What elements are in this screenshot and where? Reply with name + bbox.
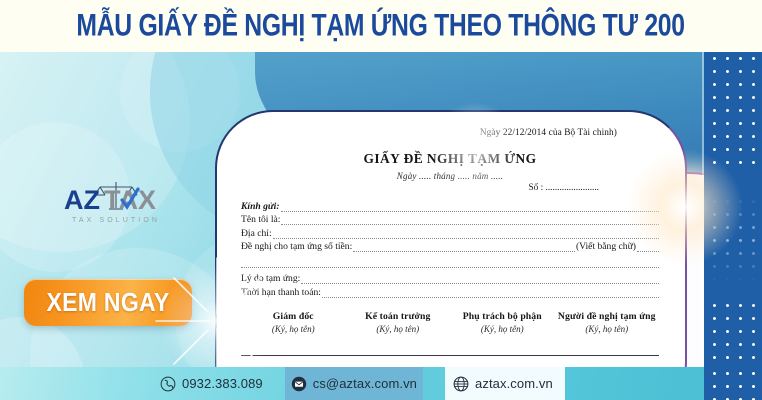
form-row: Kính gửi: — [241, 201, 659, 212]
document-card: Ngày 22/12/2014 của Bộ Tài chinh) GIẤY Đ… — [215, 110, 687, 400]
globe-icon — [453, 376, 469, 392]
phone-icon — [160, 376, 176, 392]
field-label-ten-toi-la: Tên tôi là: — [241, 214, 280, 225]
field-blank-line — [301, 275, 659, 284]
footer-dot-strip — [704, 367, 762, 400]
footer-email-text: cs@aztax.com.vn — [313, 376, 417, 391]
signature-row: Giám đốc (Ký, họ tên) Kế toán trưởng (Ký… — [241, 311, 659, 334]
footer-website-text: aztax.com.vn — [475, 376, 553, 391]
signature-note: (Ký, họ tên) — [346, 324, 451, 334]
signature-divider — [241, 355, 659, 356]
field-label-thoi-han: Thời hạn thanh toán: — [241, 287, 321, 298]
logo-tagline: TAX SOLUTION — [72, 217, 160, 224]
signature-note: (Ký, họ tên) — [241, 324, 346, 334]
signature-block-nguoi-de-nghi: Người đề nghị tạm ứng (Ký, họ tên) — [555, 311, 660, 334]
signature-block-giam-doc: Giám đốc (Ký, họ tên) — [241, 311, 346, 334]
field-blank-line — [273, 230, 659, 239]
form-row: Thời hạn thanh toán: — [241, 287, 659, 298]
footer-phone[interactable]: 0932.383.089 — [160, 376, 263, 392]
field-hint-viet-bang-chu: (Viết bằng chữ) — [575, 241, 636, 252]
field-label-ly-do: Lý do tạm ứng: — [241, 273, 300, 284]
field-continuation-line — [241, 258, 659, 268]
logo-text-az: AZ — [64, 185, 100, 215]
xem-ngay-label: XEM NGAY — [47, 287, 170, 317]
signature-role: Kế toán trưởng — [346, 311, 451, 322]
footer-phone-text: 0932.383.089 — [182, 376, 263, 391]
document-date-line: Ngày 22/12/2014 của Bộ Tài chinh) — [241, 128, 659, 138]
footer-website[interactable]: aztax.com.vn — [445, 367, 565, 400]
document-content: Ngày 22/12/2014 của Bộ Tài chinh) GIẤY Đ… — [217, 112, 685, 400]
footer-bar: 0932.383.089 cs@aztax.com.vn a — [0, 367, 762, 400]
field-blank-line — [281, 203, 659, 212]
signature-block-phu-trach-bo-phan: Phụ trách bộ phận (Ký, họ tên) — [450, 311, 555, 334]
form-row: Địa chỉ: — [241, 228, 659, 239]
content-stage: Ngày 22/12/2014 của Bộ Tài chinh) GIẤY Đ… — [0, 52, 762, 400]
field-label-kinh-gui: Kính gửi: — [241, 201, 280, 212]
dot-pattern-fade — [704, 172, 762, 302]
logo-svg: AZ TAX TAX SOLUTION — [62, 178, 170, 226]
form-row: Đề nghị cho tạm ứng số tiền: (Viết bằng … — [241, 241, 659, 252]
field-label-dia-chi: Địa chỉ: — [241, 228, 272, 239]
form-row: Lý do tạm ứng: — [241, 273, 659, 284]
signature-role: Giám đốc — [241, 311, 346, 322]
signature-role: Người đề nghị tạm ứng — [555, 311, 660, 322]
banner: MẪU GIẤY ĐỀ NGHỊ TẠM ỨNG THEO THÔNG TƯ 2… — [0, 0, 762, 400]
field-blank-line — [353, 243, 575, 252]
field-blank-line — [322, 289, 659, 298]
signature-note: (Ký, họ tên) — [555, 324, 660, 334]
aztax-logo: AZ TAX TAX SOLUTION — [62, 178, 170, 226]
dot-pattern — [708, 367, 762, 400]
field-label-so-tien: Đề nghị cho tạm ứng số tiền: — [241, 241, 352, 252]
envelope-icon — [291, 376, 307, 392]
document-subtitle: Ngày ..... tháng ..... năm ..... — [241, 171, 659, 181]
dot-pattern-strip — [704, 52, 762, 400]
page-title: MẪU GIẤY ĐỀ NGHỊ TẠM ỨNG THEO THÔNG TƯ 2… — [77, 8, 685, 43]
xem-ngay-button[interactable]: XEM NGAY — [24, 279, 192, 326]
footer-email[interactable]: cs@aztax.com.vn — [285, 367, 423, 400]
footer-contacts: 0932.383.089 cs@aztax.com.vn a — [0, 367, 587, 400]
signature-note: (Ký, họ tên) — [450, 324, 555, 334]
field-blank-line — [281, 216, 659, 225]
form-row: Tên tôi là: — [241, 214, 659, 225]
signature-role: Phụ trách bộ phận — [450, 311, 555, 322]
document-title: GIẤY ĐỀ NGHỊ TẠM ỨNG — [241, 151, 659, 167]
document-number-label: Số : ....................... — [241, 183, 659, 193]
signature-block-ke-toan-truong: Kế toán trưởng (Ký, họ tên) — [346, 311, 451, 334]
field-blank-line — [637, 243, 659, 252]
strip-divider — [702, 52, 704, 400]
header-bar: MẪU GIẤY ĐỀ NGHỊ TẠM ỨNG THEO THÔNG TƯ 2… — [0, 0, 762, 52]
